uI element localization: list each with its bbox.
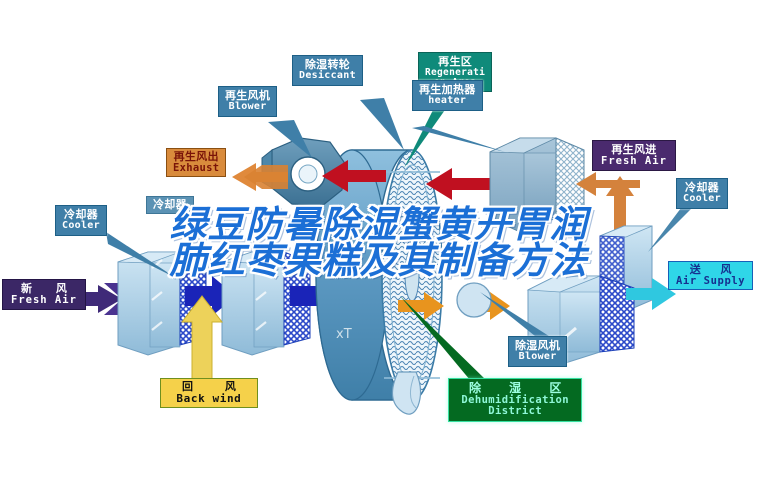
label-regeneration-blower-en: Blower: [225, 102, 270, 113]
label-regeneration-heater[interactable]: 再生加热器 heater: [412, 80, 483, 111]
label-fresh-air-en: Fresh Air: [11, 295, 77, 306]
label-dehumidification-blower[interactable]: 除湿风机 Blower: [508, 336, 567, 367]
label-regeneration-exhaust[interactable]: 再生风出 Exhaust: [166, 148, 226, 177]
label-regeneration-fresh-air-in[interactable]: 再生风进 Fresh Air: [592, 140, 676, 171]
label-cooler-right[interactable]: 冷却器 Cooler: [676, 178, 728, 209]
label-cooler-left[interactable]: 冷却器 Cooler: [55, 205, 107, 236]
exhaust-arrow: [232, 163, 288, 191]
label-back-wind[interactable]: 回 风 Back wind: [160, 378, 258, 408]
label-cooler-center-occluded[interactable]: 冷却器: [146, 196, 194, 214]
label-back-wind-en: Back wind: [168, 393, 250, 405]
label-regen-fresh-air-en: Fresh Air: [601, 156, 667, 167]
label-cooler-right-en: Cooler: [683, 194, 721, 205]
label-dehum-district-en-2: District: [457, 406, 573, 417]
label-regeneration-heater-en: heater: [419, 96, 476, 107]
diagram-canvas: xT: [0, 0, 757, 488]
label-air-supply[interactable]: 送 风 Air Supply: [668, 261, 753, 290]
label-regen-exhaust-en: Exhaust: [173, 163, 219, 174]
label-fresh-air-in[interactable]: 新 风 Fresh Air: [2, 279, 86, 310]
label-desiccant-wheel[interactable]: 除湿转轮 Desiccant: [292, 55, 363, 86]
label-air-supply-en: Air Supply: [676, 276, 745, 287]
label-dehum-district-cn: 除 湿 区: [457, 382, 573, 395]
label-cooler-left-en: Cooler: [62, 221, 100, 232]
dehumidifier-schematic: xT: [0, 0, 757, 488]
label-dehumidification-district[interactable]: 除 湿 区 Dehumidification District: [448, 378, 582, 422]
label-regeneration-blower[interactable]: 再生风机 Blower: [218, 86, 277, 117]
label-desiccant-wheel-en: Desiccant: [299, 71, 356, 82]
rotor-watermark: xT: [336, 327, 352, 342]
label-dehum-blower-en: Blower: [515, 352, 560, 363]
label-cooler-center-cn: 冷却器: [153, 199, 187, 211]
